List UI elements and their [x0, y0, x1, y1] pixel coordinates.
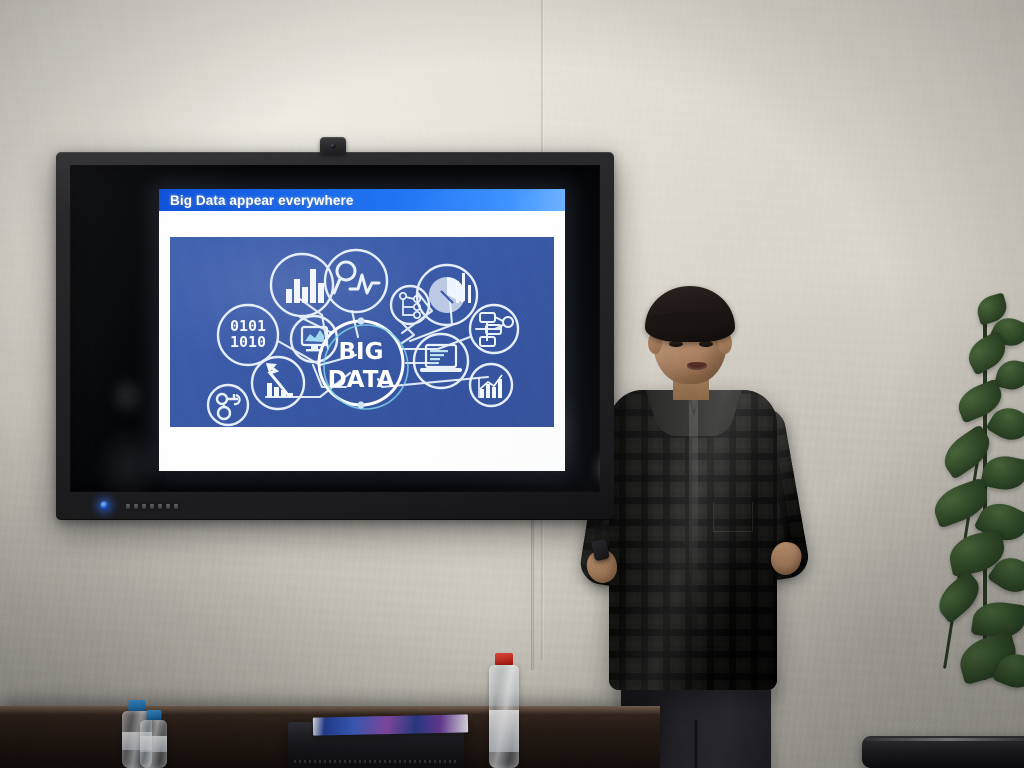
screen-reflection	[84, 370, 170, 492]
bottle-body	[489, 665, 519, 768]
bottle-body	[140, 720, 167, 768]
colorful-brochure[interactable]	[313, 714, 468, 735]
power-led-icon	[100, 501, 109, 510]
presentation-slide: Big Data appear everywhere	[159, 189, 565, 471]
presenter-hair	[645, 286, 735, 342]
presenter-person	[605, 292, 805, 768]
camera-icon	[320, 137, 346, 154]
bottle-label	[489, 710, 519, 751]
water-bottle[interactable]	[489, 653, 519, 768]
wall-cable-conduit	[531, 520, 534, 670]
slide-title-bar: Big Data appear everywhere	[159, 189, 565, 211]
slide-body: 0101 1010	[159, 211, 565, 471]
wall-mounted-display[interactable]: Big Data appear everywhere	[56, 152, 614, 520]
office-chair[interactable]	[862, 736, 1024, 768]
shirt-shading	[609, 390, 777, 690]
presentation-room-photo: Big Data appear everywhere	[0, 0, 1024, 768]
display-screen: Big Data appear everywhere	[70, 165, 600, 492]
display-control-buttons[interactable]	[126, 504, 178, 509]
bottle-cap	[146, 710, 161, 720]
bottle-label	[140, 736, 167, 751]
slide-title: Big Data appear everywhere	[159, 193, 353, 208]
svg-text:1010: 1010	[230, 333, 266, 351]
presenter-plaid-shirt	[609, 390, 777, 690]
mouth	[687, 362, 707, 370]
center-label-line1: BIG	[339, 339, 384, 365]
chair-highlight	[866, 738, 1024, 741]
potted-green-plant	[905, 290, 1024, 690]
big-data-network-infographic: 0101 1010	[170, 237, 554, 427]
table-edge	[0, 706, 660, 714]
bottle-cap	[495, 653, 513, 665]
center-label-line2: DATA	[328, 367, 395, 393]
water-bottle[interactable]	[140, 710, 167, 768]
